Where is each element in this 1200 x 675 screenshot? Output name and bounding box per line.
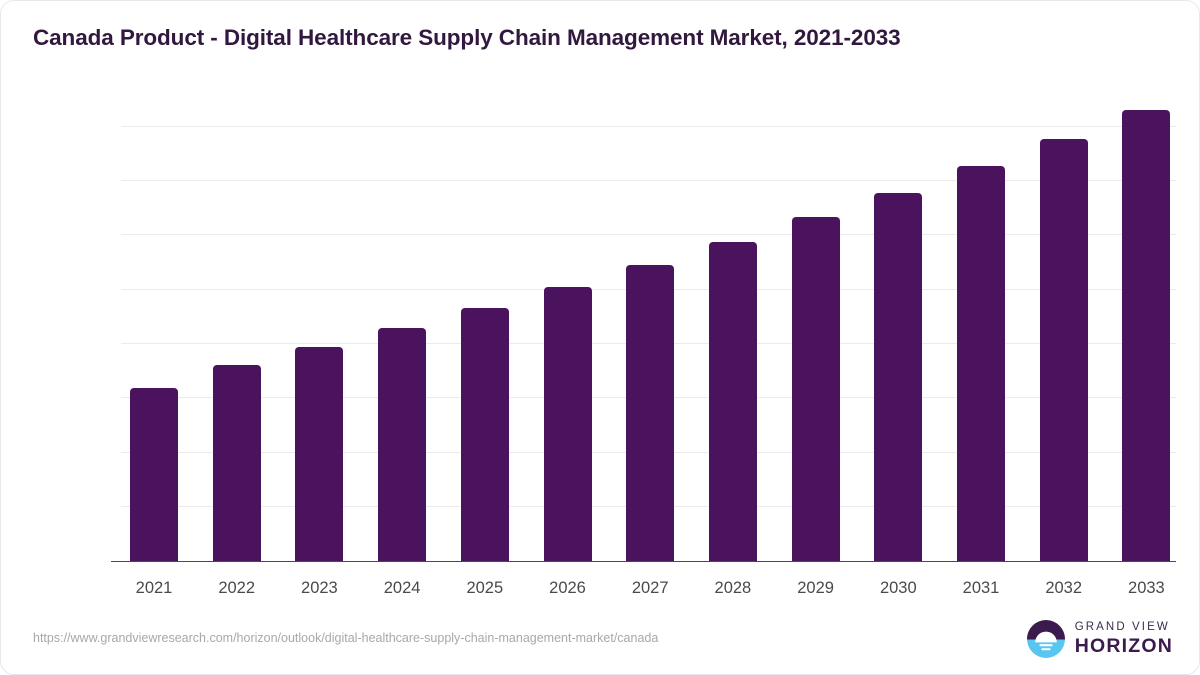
bar-2028[interactable]: [709, 242, 757, 560]
bar-2021[interactable]: [130, 388, 178, 561]
page-title: Canada Product - Digital Healthcare Supp…: [33, 25, 901, 51]
bar-2032[interactable]: [1040, 139, 1088, 561]
x-axis-tick-label-2033: 2033: [1106, 579, 1186, 598]
bar-2024[interactable]: [378, 328, 426, 561]
source-url[interactable]: https://www.grandviewresearch.com/horizo…: [33, 631, 658, 645]
x-axis-tick-label-2027: 2027: [610, 579, 690, 598]
bar-2033[interactable]: [1122, 110, 1170, 560]
logo-wordmark: GRAND VIEW HORIZON: [1075, 622, 1173, 656]
logo-text-horizon: HORIZON: [1075, 637, 1173, 657]
bar-2027[interactable]: [626, 265, 674, 561]
bar-2030[interactable]: [874, 193, 922, 560]
bar-series: 2021202220232024202520262027202820292030…: [111, 101, 1176, 571]
x-axis-tick-label-2023: 2023: [279, 579, 359, 598]
x-axis-tick-label-2024: 2024: [362, 579, 442, 598]
bar-2025[interactable]: [461, 308, 509, 560]
x-axis-tick-label-2022: 2022: [197, 579, 277, 598]
grand-view-horizon-logo-mark-icon: [1026, 619, 1066, 659]
x-axis-tick-label-2031: 2031: [941, 579, 1021, 598]
logo-text-grand-view: GRAND VIEW: [1075, 622, 1173, 634]
x-axis-tick-label-2025: 2025: [445, 579, 525, 598]
bar-2031[interactable]: [957, 166, 1005, 561]
bar-2026[interactable]: [544, 287, 592, 561]
x-axis-tick-label-2028: 2028: [693, 579, 773, 598]
x-axis-tick-label-2032: 2032: [1024, 579, 1104, 598]
bar-2029[interactable]: [792, 217, 840, 560]
x-axis-tick-label-2026: 2026: [528, 579, 608, 598]
brand-logo: GRAND VIEW HORIZON: [1026, 619, 1173, 659]
x-axis-tick-label-2021: 2021: [114, 579, 194, 598]
x-axis-tick-label-2029: 2029: [776, 579, 856, 598]
chart-page: Canada Product - Digital Healthcare Supp…: [0, 0, 1200, 675]
bar-2022[interactable]: [213, 365, 261, 561]
plot-area: 2021202220232024202520262027202820292030…: [111, 101, 1176, 571]
x-axis-tick-label-2030: 2030: [858, 579, 938, 598]
bar-2023[interactable]: [295, 347, 343, 560]
